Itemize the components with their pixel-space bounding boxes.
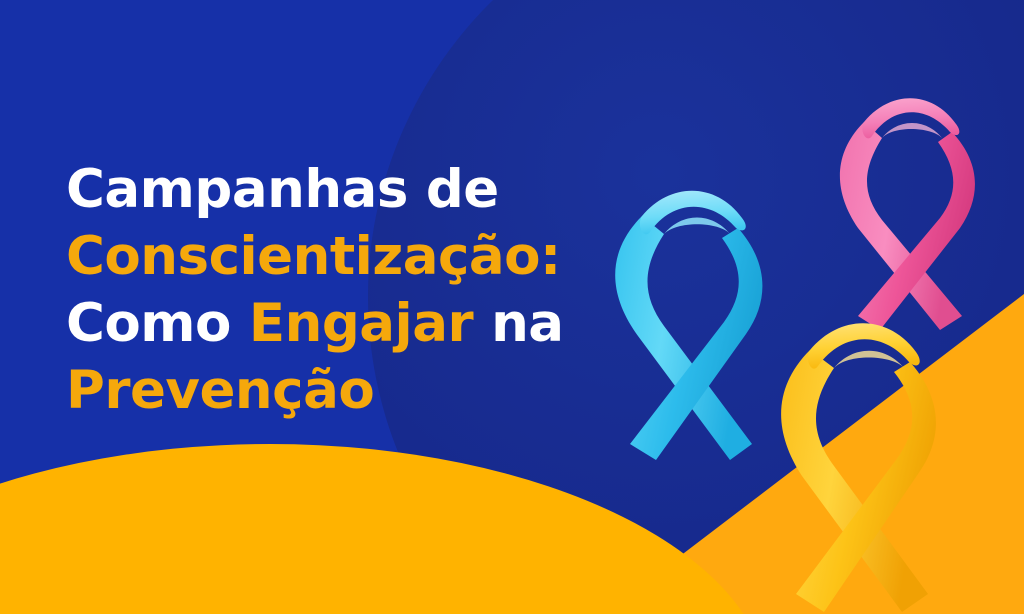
yellow-awareness-ribbon xyxy=(778,308,978,614)
headline-line-3-part-3: na xyxy=(473,293,563,354)
headline-line-3-part-1: Como xyxy=(66,293,249,354)
blue-awareness-ribbon xyxy=(612,176,802,466)
headline-line-2: Conscientização: xyxy=(66,223,536,290)
headline-line-1: Campanhas de xyxy=(66,156,536,223)
headline-block: Campanhas de Conscientização: Como Engaj… xyxy=(66,156,536,424)
pink-awareness-ribbon xyxy=(836,86,1016,336)
headline-line-3: Como Engajar na xyxy=(66,290,536,357)
banner-canvas: Campanhas de Conscientização: Como Engaj… xyxy=(0,0,1024,614)
headline-line-4: Prevenção xyxy=(66,357,536,424)
headline-line-3-part-2: Engajar xyxy=(249,293,473,354)
